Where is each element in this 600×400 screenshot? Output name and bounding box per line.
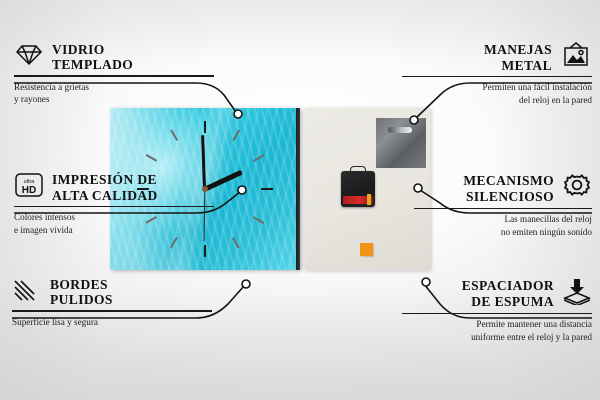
callout-desc-line2: uniforme entre el reloj y la pared [402,331,592,343]
callout-title-line2: TEMPLADO [52,57,133,72]
callout-desc-line1: Superficie lisa y segura [12,316,212,328]
metal-hanger-plate [376,118,426,168]
callout-desc-line2: del reloj en la pared [402,94,592,106]
movement-hook [350,166,366,173]
callout-desc-line2: no emiten ningún sonido [414,226,592,238]
hanger-slot [388,127,412,133]
quartz-movement-box [341,171,375,207]
callout-impresion-alta-calidad[interactable]: ultra HD IMPRESIÓN DE ALTA CALIDAD Color… [14,172,214,236]
callout-title-line2: DE ESPUMA [462,294,554,309]
battery [343,196,373,204]
diamond-icon [14,43,44,72]
callout-rule [12,310,212,311]
callout-desc-line2: y rayones [14,93,214,105]
callout-title-line1: BORDES [50,277,113,292]
callout-title-line1: MECANISMO [463,173,554,188]
callout-title-line1: VIDRIO [52,42,133,57]
picture-frame-hanging-icon [560,42,592,73]
callout-desc-line1: Resistencia a grietas [14,81,214,93]
callout-title-line1: MANEJAS [484,42,552,57]
arrow-into-pad-icon [562,277,592,310]
callout-desc-line1: Permiten una fácil instalación [402,81,592,93]
callout-bordes-pulidos[interactable]: BORDES PULIDOS Superficie lisa y segura [12,277,212,328]
callout-title-line2: PULIDOS [50,292,113,307]
callout-title-line1: ESPACIADOR [462,278,554,293]
callout-manejas-metal[interactable]: MANEJAS METAL Permiten una fácil instala… [402,42,592,106]
callout-title-line1: IMPRESIÓN DE [52,172,158,187]
callout-title-line2: ALTA CALIDAD [52,188,158,203]
gear-icon [562,172,592,205]
callout-desc-line2: e imagen vívida [14,224,214,236]
callout-rule [414,208,592,209]
callout-rule [402,313,592,314]
callout-desc-line1: Colores intensos [14,211,214,223]
callout-rule [14,75,214,76]
ultra-hd-icon: ultra HD [14,172,44,203]
callout-desc-line1: Permite mantener una distancia [402,318,592,330]
callout-rule [14,206,214,207]
clock-back-panel [305,108,430,270]
clock-side-edge [296,108,300,270]
callout-rule [402,76,592,77]
callout-title-line2: SILENCIOSO [463,189,554,204]
diagonal-lines-icon [12,278,42,307]
callout-mecanismo-silencioso[interactable]: MECANISMO SILENCIOSO Las manecillas del … [414,172,592,238]
foam-spacer-pad [360,243,373,256]
callout-title-line2: METAL [484,58,552,73]
callout-vidrio-templado[interactable]: VIDRIO TEMPLADO Resistencia a grietas y … [14,42,214,105]
callout-desc-line1: Las manecillas del reloj [414,213,592,225]
callout-espaciador-espuma[interactable]: ESPACIADOR DE ESPUMA Permite mantener un… [402,277,592,343]
svg-text:HD: HD [22,185,36,196]
